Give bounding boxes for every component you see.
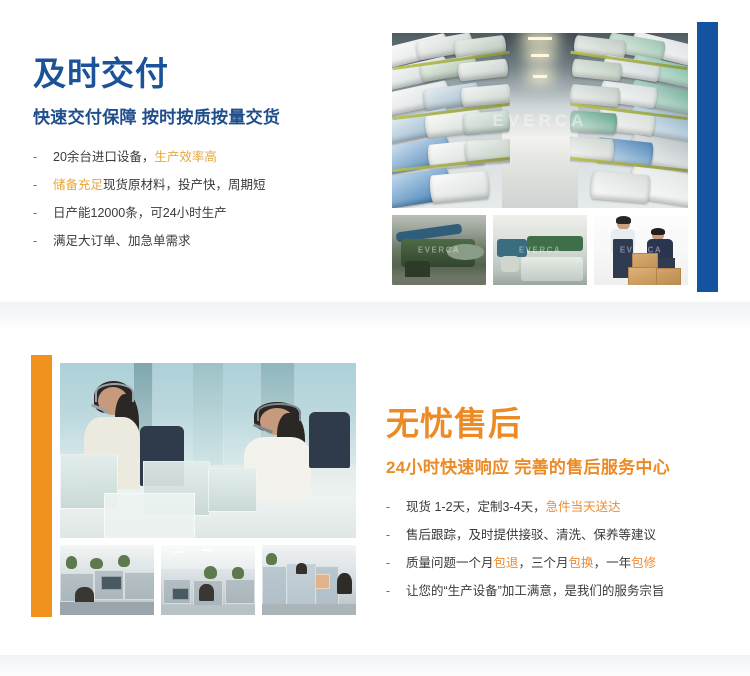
service-headline: 无忧售后 xyxy=(386,405,726,443)
delivery-thumbnail-row: EVERCA EVERCA xyxy=(392,215,688,285)
office-open-plan-photo-2 xyxy=(161,545,255,615)
delivery-subheadline: 快速交付保障 按时按质按量交货 xyxy=(33,107,373,129)
delivery-bullet-list: - 20余台进口设备，生产效率高 - 储备充足现货原材料，投产快，周期短 - 日… xyxy=(33,149,373,250)
orange-accent-bar xyxy=(31,355,52,617)
service-text-block: 无忧售后 24小时快速响应 完善的售后服务中心 - 现货 1-2天，定制3-4天… xyxy=(386,405,726,600)
bullet-dash-icon: - xyxy=(386,527,390,544)
bullet-dash-icon: - xyxy=(386,499,390,516)
corridor-shape xyxy=(502,33,579,208)
service-bullet-list: - 现货 1-2天，定制3-4天，急件当天送达 - 售后跟踪，及时提供接驳、清洗… xyxy=(386,499,726,600)
bullet-text-plain: 售后跟踪，及时提供接驳、清洗、保养等建议 xyxy=(406,528,656,542)
bullet-text-highlight: 储备充足 xyxy=(53,178,103,192)
bullet-dash-icon: - xyxy=(33,233,37,250)
blue-accent-bar xyxy=(697,22,718,292)
bullet-text-plain: 质量问题一个月 xyxy=(406,556,494,570)
packing-staff-photo: EVERCA xyxy=(594,215,688,285)
office-desks-photo-1 xyxy=(60,545,154,615)
list-item: - 让您的“生产设备”加工满意，是我们的服务宗旨 xyxy=(386,583,726,600)
bullet-text-plain: 20余台进口设备， xyxy=(53,150,154,164)
bullet-text-highlight: 包退 xyxy=(494,556,519,570)
bullet-dash-icon: - xyxy=(386,555,390,572)
bullet-dash-icon: - xyxy=(386,583,390,600)
list-item: - 售后跟踪，及时提供接驳、清洗、保养等建议 xyxy=(386,527,726,544)
bullet-text-plain: 现货 1-2天，定制3-4天， xyxy=(406,500,546,514)
bullet-text-plain: 日产能12000条，可24小时生产 xyxy=(53,206,227,220)
bullet-text-highlight: 生产效率高 xyxy=(154,150,217,164)
product-detail-page: 及时交付 快速交付保障 按时按质按量交货 - 20余台进口设备，生产效率高 - … xyxy=(0,0,750,676)
bullet-text-plain: ，三个月 xyxy=(519,556,569,570)
service-subheadline: 24小时快速响应 完善的售后服务中心 xyxy=(386,457,726,479)
bullet-text-highlight: 急件当天送达 xyxy=(546,500,621,514)
list-item: - 满足大订单、加急单需求 xyxy=(33,233,373,250)
bullet-text-plain: ，一年 xyxy=(594,556,632,570)
section-divider-top xyxy=(0,302,750,327)
bullet-text-highlight: 包换 xyxy=(569,556,594,570)
coating-machine-photo: EVERCA xyxy=(392,215,486,285)
right-beam-stack xyxy=(570,33,688,208)
bullet-dash-icon: - xyxy=(33,149,37,166)
call-center-agents-photo xyxy=(60,363,356,538)
section-delivery: 及时交付 快速交付保障 按时按质按量交货 - 20余台进口设备，生产效率高 - … xyxy=(0,0,750,302)
bullet-text-plain: 让您的“生产设备”加工满意，是我们的服务宗旨 xyxy=(406,584,664,598)
list-item: - 20余台进口设备，生产效率高 xyxy=(33,149,373,166)
service-photo-collage xyxy=(60,363,356,615)
delivery-headline: 及时交付 xyxy=(33,55,373,93)
left-beam-stack xyxy=(392,33,510,208)
delivery-photo-collage: EVERCA EVERCA EVERCA xyxy=(392,33,688,285)
list-item: - 现货 1-2天，定制3-4天，急件当天送达 xyxy=(386,499,726,516)
production-line-photo: EVERCA xyxy=(493,215,587,285)
bullet-text-plain: 满足大订单、加急单需求 xyxy=(53,234,191,248)
bullet-text-plain: 现货原材料，投产快，周期短 xyxy=(103,178,266,192)
list-item: - 储备充足现货原材料，投产快，周期短 xyxy=(33,177,373,194)
ceiling-light-icon xyxy=(533,75,548,78)
section-divider-bottom xyxy=(0,655,750,676)
yarn-beam-warehouse-photo: EVERCA xyxy=(392,33,688,208)
ceiling-light-icon xyxy=(531,54,549,57)
office-cubicles-photo-3 xyxy=(262,545,356,615)
section-service: 无忧售后 24小时快速响应 完善的售后服务中心 - 现货 1-2天，定制3-4天… xyxy=(0,327,750,655)
service-thumbnail-row xyxy=(60,545,356,615)
bullet-dash-icon: - xyxy=(33,205,37,222)
delivery-text-block: 及时交付 快速交付保障 按时按质按量交货 - 20余台进口设备，生产效率高 - … xyxy=(33,55,373,250)
bullet-text-highlight: 包修 xyxy=(631,556,656,570)
office-chair-right xyxy=(309,412,350,468)
list-item: - 日产能12000条，可24小时生产 xyxy=(33,205,373,222)
ceiling-light-icon xyxy=(528,37,552,40)
list-item: - 质量问题一个月包退，三个月包换，一年包修 xyxy=(386,555,726,572)
bullet-dash-icon: - xyxy=(33,177,37,194)
